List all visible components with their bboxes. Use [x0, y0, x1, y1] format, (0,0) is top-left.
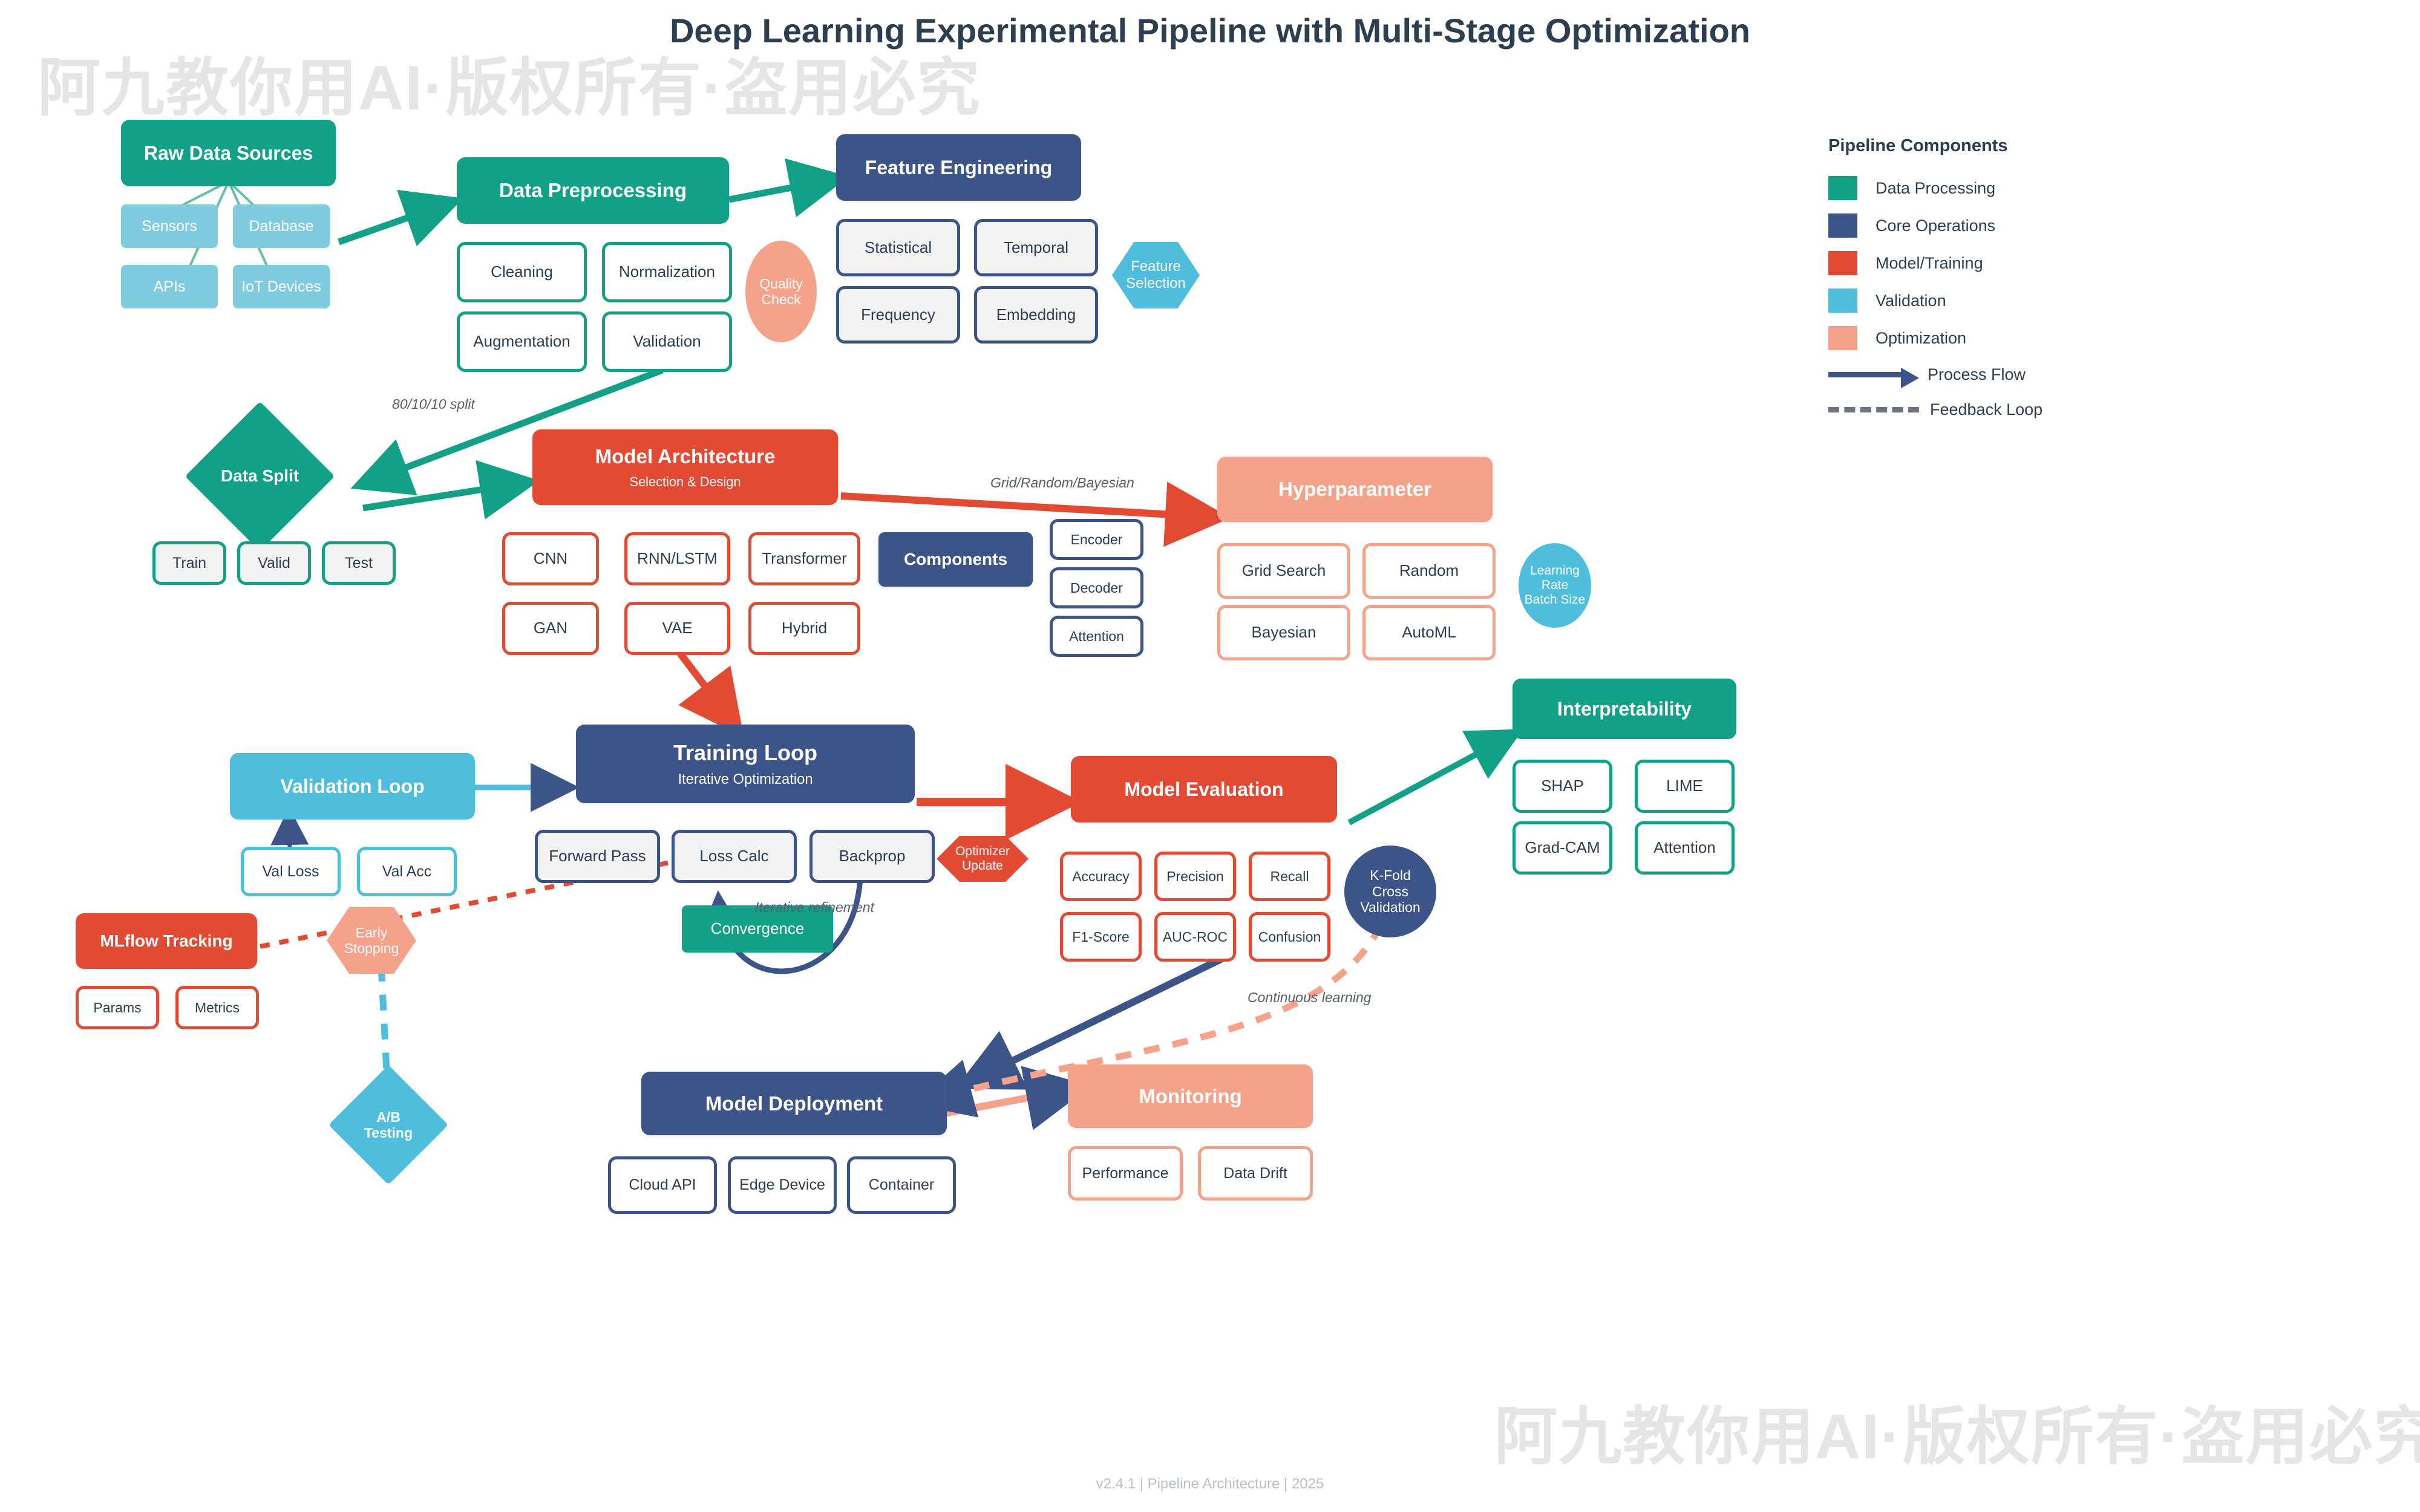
node-label-line2: Testing [364, 1125, 413, 1141]
node-label: MLflow Tracking [100, 931, 232, 951]
node-label: Frequency [861, 306, 935, 324]
node-preprocess-validation[interactable]: Validation [602, 311, 732, 372]
node-feature-temporal[interactable]: Temporal [974, 219, 1098, 276]
node-interp-lime[interactable]: LIME [1635, 760, 1735, 813]
node-label: Cloud API [629, 1176, 696, 1194]
node-label: Random [1399, 562, 1459, 580]
node-label: Forward Pass [549, 847, 646, 865]
node-label: Hybrid [782, 619, 827, 637]
edge-label-hpo: Grid/Random/Bayesian [990, 475, 1134, 491]
node-model-deployment[interactable]: Model Deployment [641, 1072, 947, 1135]
legend: Pipeline Components Data Processing Core… [1828, 136, 2167, 427]
node-hp-grid-search[interactable]: Grid Search [1217, 543, 1350, 599]
node-ab-testing[interactable]: A/B Testing [346, 1083, 431, 1167]
legend-label: Feedback Loop [1930, 400, 2042, 419]
legend-label: Validation [1875, 292, 1946, 310]
node-label: Val Loss [262, 863, 319, 881]
node-label: Performance [1082, 1165, 1168, 1182]
arrow-solid-icon [1828, 372, 1901, 377]
node-label: Model Deployment [705, 1092, 883, 1115]
node-eval-auc-roc[interactable]: AUC-ROC [1154, 912, 1236, 962]
node-label: Feature Engineering [865, 157, 1052, 179]
node-subtitle: Iterative Optimization [678, 771, 813, 787]
node-label: Train [172, 555, 206, 572]
node-label: Backprop [839, 847, 906, 865]
legend-item-model-training: Model/Training [1828, 244, 2167, 282]
node-label: Metrics [195, 1000, 240, 1015]
node-label: Cleaning [491, 263, 553, 281]
node-label: Validation [633, 333, 701, 351]
page-title: Deep Learning Experimental Pipeline with… [0, 11, 2420, 50]
node-label: Transformer [762, 550, 847, 568]
node-label-line1: K-Fold [1370, 867, 1411, 883]
node-label-line1: Optimizer [955, 844, 1010, 859]
legend-item-core-operations: Core Operations [1828, 207, 2167, 244]
legend-item-validation: Validation [1828, 282, 2167, 319]
node-label: Data Split [221, 466, 299, 486]
node-mlflow-params[interactable]: Params [76, 986, 159, 1029]
node-mlflow-metrics[interactable]: Metrics [175, 986, 259, 1029]
legend-swatch-core-operations [1828, 213, 1857, 238]
node-components[interactable]: Components [878, 532, 1033, 587]
node-training-loss-calc[interactable]: Loss Calc [672, 830, 797, 883]
legend-label: Model/Training [1875, 254, 1983, 273]
node-training-backprop[interactable]: Backprop [809, 830, 935, 883]
node-preprocess-augmentation[interactable]: Augmentation [457, 311, 587, 372]
legend-swatch-model-training [1828, 251, 1857, 275]
node-quality-check[interactable]: Quality Check [745, 241, 817, 342]
node-label-line1: Learning [1530, 564, 1580, 578]
node-label: Recall [1270, 868, 1309, 884]
node-label: Val Acc [382, 863, 432, 881]
node-label: Interpretability [1557, 698, 1692, 720]
node-label: CNN [534, 550, 567, 568]
node-model-vae[interactable]: VAE [624, 602, 730, 655]
legend-item-feedback-loop: Feedback Loop [1828, 392, 2167, 427]
node-label: Normalization [619, 263, 715, 281]
node-feature-statistical[interactable]: Statistical [836, 219, 960, 276]
node-label: SHAP [1541, 777, 1584, 795]
legend-item-process-flow: Process Flow [1828, 357, 2167, 392]
legend-label: Process Flow [1928, 365, 2026, 384]
node-label: Attention [1653, 839, 1716, 857]
node-feature-frequency[interactable]: Frequency [836, 286, 960, 344]
node-label-line1: Feature [1131, 258, 1181, 275]
node-label: Augmentation [473, 333, 570, 351]
node-val-loss[interactable]: Val Loss [241, 847, 341, 896]
node-mlflow-tracking[interactable]: MLflow Tracking [76, 913, 257, 969]
node-split-test[interactable]: Test [322, 541, 396, 585]
node-label: Model Architecture [595, 445, 776, 468]
node-model-cnn[interactable]: CNN [502, 532, 599, 585]
node-val-acc[interactable]: Val Acc [357, 847, 457, 896]
node-label: Accuracy [1072, 868, 1130, 884]
node-model-rnn-lstm[interactable]: RNN/LSTM [624, 532, 730, 585]
node-hyperparameter[interactable]: Hyperparameter [1217, 457, 1493, 522]
node-deploy-cloud-api[interactable]: Cloud API [608, 1156, 717, 1214]
node-label-line3: Batch Size [1525, 593, 1585, 607]
legend-title: Pipeline Components [1828, 136, 2167, 156]
node-label: Confusion [1258, 929, 1321, 945]
node-monitor-data-drift[interactable]: Data Drift [1198, 1146, 1313, 1201]
node-label: Test [345, 555, 373, 572]
node-label: Loss Calc [699, 847, 768, 865]
node-eval-f1-score[interactable]: F1-Score [1060, 912, 1142, 962]
node-eval-precision[interactable]: Precision [1154, 852, 1236, 901]
node-label: Container [869, 1176, 934, 1194]
legend-item-optimization: Optimization [1828, 319, 2167, 357]
node-label: Embedding [996, 306, 1076, 324]
legend-swatch-optimization [1828, 326, 1857, 350]
node-label: Decoder [1070, 580, 1123, 596]
node-eval-confusion[interactable]: Confusion [1249, 912, 1330, 962]
node-label: Edge Device [739, 1176, 825, 1194]
node-model-evaluation[interactable]: Model Evaluation [1071, 756, 1337, 823]
footer-text: v2.4.1 | Pipeline Architecture | 2025 [0, 1476, 2420, 1493]
edge-label-split: 80/10/10 split [392, 396, 475, 412]
node-label: Data Preprocessing [499, 179, 687, 202]
node-label-line1: Early [356, 925, 387, 940]
node-label: Database [249, 218, 313, 235]
node-model-architecture[interactable]: Model Architecture Selection & Design [532, 429, 838, 505]
node-raw-data-sources[interactable]: Raw Data Sources [121, 120, 336, 186]
node-deploy-container[interactable]: Container [847, 1156, 956, 1214]
node-training-loop[interactable]: Training Loop Iterative Optimization [576, 725, 915, 803]
node-feature-engineering[interactable]: Feature Engineering [836, 134, 1081, 201]
node-hp-random[interactable]: Random [1362, 543, 1496, 599]
node-label: Sensors [142, 218, 197, 235]
node-training-forward-pass[interactable]: Forward Pass [535, 830, 660, 883]
node-interp-attention[interactable]: Attention [1635, 821, 1735, 875]
node-label: Monitoring [1139, 1085, 1241, 1108]
node-label: Params [93, 1000, 141, 1015]
node-label: Training Loop [673, 740, 817, 765]
node-label: Data Drift [1223, 1165, 1287, 1182]
node-kfold-cross-validation[interactable]: K-Fold Cross Validation [1344, 846, 1436, 937]
node-monitoring[interactable]: Monitoring [1068, 1064, 1313, 1128]
node-eval-recall[interactable]: Recall [1249, 852, 1330, 901]
node-label-line1: Quality [759, 276, 803, 292]
node-preprocess-normalization[interactable]: Normalization [602, 242, 732, 302]
node-monitor-performance[interactable]: Performance [1068, 1146, 1183, 1201]
node-split-valid[interactable]: Valid [237, 541, 311, 585]
node-label: Precision [1166, 868, 1224, 884]
node-label: Grad-CAM [1525, 839, 1600, 857]
node-interp-shap[interactable]: SHAP [1512, 760, 1612, 813]
node-label: Hyperparameter [1278, 478, 1431, 501]
node-label-line2: Rate [1542, 578, 1568, 593]
node-hp-automl[interactable]: AutoML [1362, 605, 1496, 660]
node-hp-bayesian[interactable]: Bayesian [1217, 605, 1350, 660]
arrow-dashed-icon [1828, 407, 1919, 412]
node-eval-accuracy[interactable]: Accuracy [1060, 852, 1142, 901]
node-label: AutoML [1402, 624, 1456, 642]
node-label: Model Evaluation [1124, 778, 1283, 801]
edge-label-iterative-refinement: Iterative refinement [755, 899, 874, 916]
node-label: AUC-ROC [1163, 929, 1228, 945]
node-source-apis[interactable]: APIs [121, 265, 218, 308]
legend-label: Data Processing [1875, 179, 1995, 198]
legend-label: Core Operations [1875, 217, 1995, 235]
node-label: GAN [534, 619, 567, 637]
node-label-line2: Selection [1126, 275, 1186, 292]
node-label: LIME [1666, 777, 1703, 795]
legend-swatch-validation [1828, 288, 1857, 313]
legend-swatch-data-processing [1828, 176, 1857, 200]
node-label: F1-Score [1072, 929, 1130, 945]
node-label: VAE [662, 619, 692, 637]
node-preprocess-cleaning[interactable]: Cleaning [457, 242, 587, 302]
node-label: Convergence [711, 920, 805, 938]
node-label: IoT Devices [241, 278, 321, 296]
node-label-line2: Cross [1372, 884, 1408, 899]
node-label: RNN/LSTM [637, 550, 718, 568]
node-label: Validation Loop [280, 775, 424, 798]
node-interp-grad-cam[interactable]: Grad-CAM [1512, 821, 1612, 875]
node-learning-rate-batch-size[interactable]: Learning Rate Batch Size [1519, 543, 1591, 628]
node-label-line2: Update [962, 859, 1003, 873]
node-label: Grid Search [1242, 562, 1326, 580]
node-deploy-edge-device[interactable]: Edge Device [728, 1156, 837, 1214]
node-label: Temporal [1004, 239, 1068, 257]
node-label-line3: Validation [1360, 899, 1420, 915]
node-feature-embedding[interactable]: Embedding [974, 286, 1098, 344]
node-label: Raw Data Sources [144, 142, 313, 165]
node-component-encoder[interactable]: Encoder [1050, 519, 1143, 560]
node-subtitle: Selection & Design [630, 474, 741, 489]
node-label: Valid [258, 555, 290, 572]
edge-label-continuous-learning: Continuous learning [1248, 989, 1372, 1006]
node-label: Statistical [865, 239, 932, 257]
node-label-line1: A/B [376, 1109, 401, 1125]
node-label: Components [904, 550, 1007, 569]
node-model-hybrid[interactable]: Hybrid [748, 602, 860, 655]
legend-item-data-processing: Data Processing [1828, 169, 2167, 207]
node-label-line2: Check [761, 292, 800, 307]
node-label-line2: Stopping [344, 940, 399, 956]
node-data-preprocessing[interactable]: Data Preprocessing [457, 157, 729, 224]
node-model-gan[interactable]: GAN [502, 602, 599, 655]
node-label: APIs [154, 278, 186, 296]
node-split-train[interactable]: Train [152, 541, 226, 585]
node-component-attention[interactable]: Attention [1050, 616, 1143, 657]
node-source-database[interactable]: Database [233, 204, 330, 248]
node-source-sensors[interactable]: Sensors [121, 204, 218, 248]
node-model-transformer[interactable]: Transformer [748, 532, 860, 585]
node-interpretability[interactable]: Interpretability [1512, 679, 1736, 739]
node-data-split[interactable]: Data Split [207, 423, 313, 529]
node-validation-loop[interactable]: Validation Loop [230, 753, 475, 820]
node-source-iot-devices[interactable]: IoT Devices [233, 265, 330, 308]
node-label: Bayesian [1252, 624, 1316, 642]
node-label: Encoder [1071, 532, 1123, 547]
node-label: Attention [1069, 628, 1124, 644]
legend-label: Optimization [1875, 329, 1966, 348]
node-component-decoder[interactable]: Decoder [1050, 567, 1143, 608]
